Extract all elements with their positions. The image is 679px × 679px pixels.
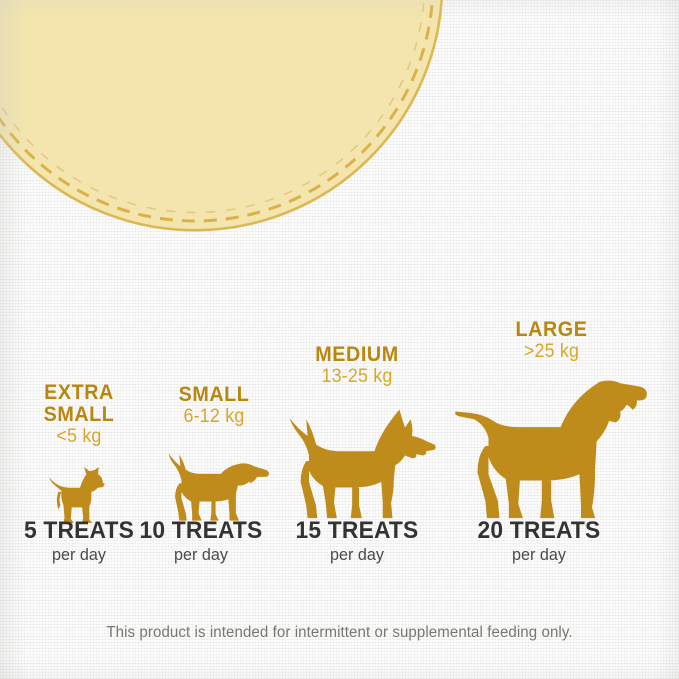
size-weight-small: 6-12 kg xyxy=(144,406,285,428)
treat-period-large: per day xyxy=(468,544,611,566)
treats-large: 20 TREATS per day xyxy=(464,518,614,566)
treats-row: 5 TREATS per day 10 TREATS per day 15 TR… xyxy=(0,518,679,578)
treat-count-large: 20 TREATS xyxy=(468,518,611,544)
size-label-line1: EXTRA xyxy=(44,381,114,404)
size-label-medium: MEDIUM xyxy=(271,344,442,365)
size-column-medium: MEDIUM 13-25 kg xyxy=(266,344,448,526)
dog-shepherd-icon xyxy=(277,404,437,526)
size-column-extra-small: EXTRA SMALL <5 kg xyxy=(4,382,154,526)
size-column-large: LARGE >25 kg xyxy=(439,319,664,526)
size-chart: EXTRA SMALL <5 kg SMALL 6-12 kg xyxy=(0,236,679,526)
size-weight-large: >25 kg xyxy=(446,341,658,363)
treat-period-medium: per day xyxy=(286,544,429,566)
treat-period-small: per day xyxy=(130,544,273,566)
size-weight-medium: 13-25 kg xyxy=(271,366,442,388)
dog-beagle-icon xyxy=(158,446,270,526)
size-label-line2: SMALL xyxy=(44,403,115,426)
size-label-small: SMALL xyxy=(144,384,285,405)
treat-count-small: 10 TREATS xyxy=(130,518,273,544)
size-weight-extra-small: <5 kg xyxy=(9,426,150,448)
size-label-large: LARGE xyxy=(446,319,658,340)
treats-small: 10 TREATS per day xyxy=(126,518,276,566)
treats-medium: 15 TREATS per day xyxy=(282,518,432,566)
size-label-extra-small: EXTRA SMALL xyxy=(9,382,150,425)
feeding-guidelines-badge: FEEDING GUIDELINES xyxy=(0,0,446,234)
disclaimer-text: This product is intended for intermitten… xyxy=(10,624,669,642)
treat-count-medium: 15 TREATS xyxy=(286,518,429,544)
dog-pointer-icon xyxy=(454,377,650,526)
feeding-guidelines-poster: FEEDING GUIDELINES EXTRA SMALL <5 kg SMA… xyxy=(0,0,679,679)
